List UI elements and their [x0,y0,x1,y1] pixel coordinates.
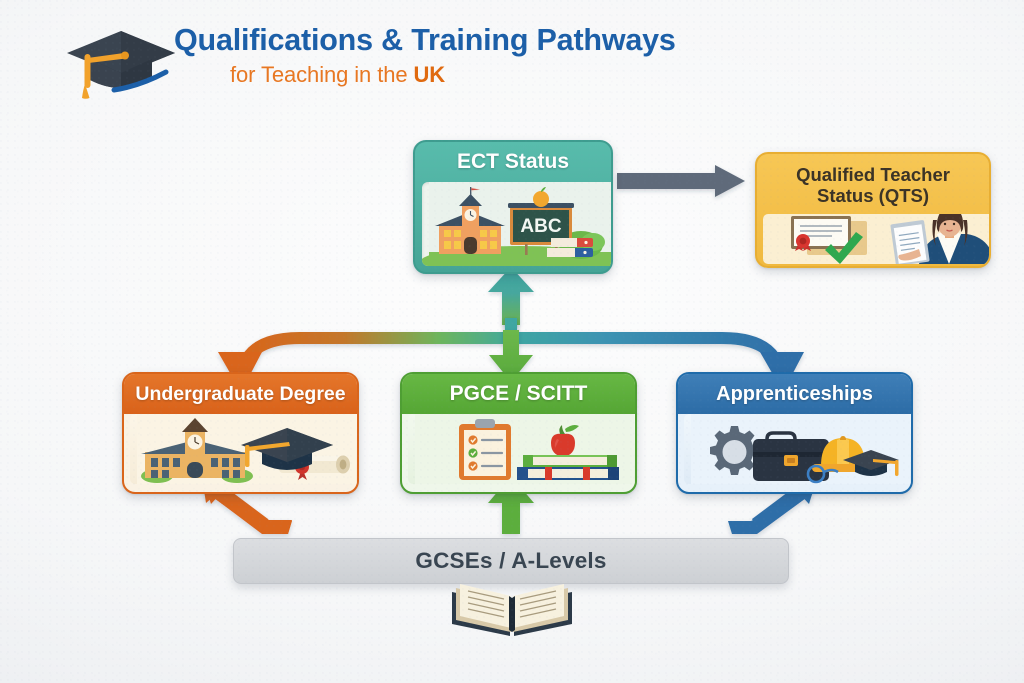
arrow-ect-to-qts [617,165,745,197]
node-qts-label-line1: Qualified Teacher [796,165,950,186]
node-gcses-alevels-label: GCSEs / A-Levels [415,548,606,574]
node-apprenticeships[interactable]: Apprenticeships [676,372,913,494]
node-apprenticeships-label: Apprenticeships [678,374,911,414]
infographic-canvas: Qualifications & Training Pathways for T… [0,0,1024,683]
svg-text:ABC: ABC [520,216,561,237]
node-pgce-scitt[interactable]: PGCE / SCITT [400,372,637,494]
node-undergraduate-degree-label: Undergraduate Degree [124,374,357,414]
node-ect-status[interactable]: ECT Status [413,140,613,274]
node-qts-label: Qualified Teacher Status (QTS) [757,154,989,214]
node-apprenticeships-artwork [684,414,913,484]
node-qts-label-line2: Status (QTS) [817,186,929,207]
arrow-up-to-ect [488,267,534,325]
briefcase-icon [753,433,829,481]
node-undergraduate-degree[interactable]: Undergraduate Degree [122,372,359,494]
clipboard-checklist-icon [459,419,511,480]
stacked-books-icon [517,455,619,480]
node-undergraduate-degree-artwork [130,414,359,484]
node-pgce-scitt-artwork [408,414,637,484]
node-ect-status-label: ECT Status [415,142,611,182]
node-pgce-scitt-label: PGCE / SCITT [402,374,635,414]
node-qts[interactable]: Qualified Teacher Status (QTS) [755,152,991,268]
open-book-icon [448,578,576,640]
gear-icon [710,426,759,475]
node-qts-artwork [763,214,991,264]
node-ect-status-artwork: ABC [422,182,613,266]
